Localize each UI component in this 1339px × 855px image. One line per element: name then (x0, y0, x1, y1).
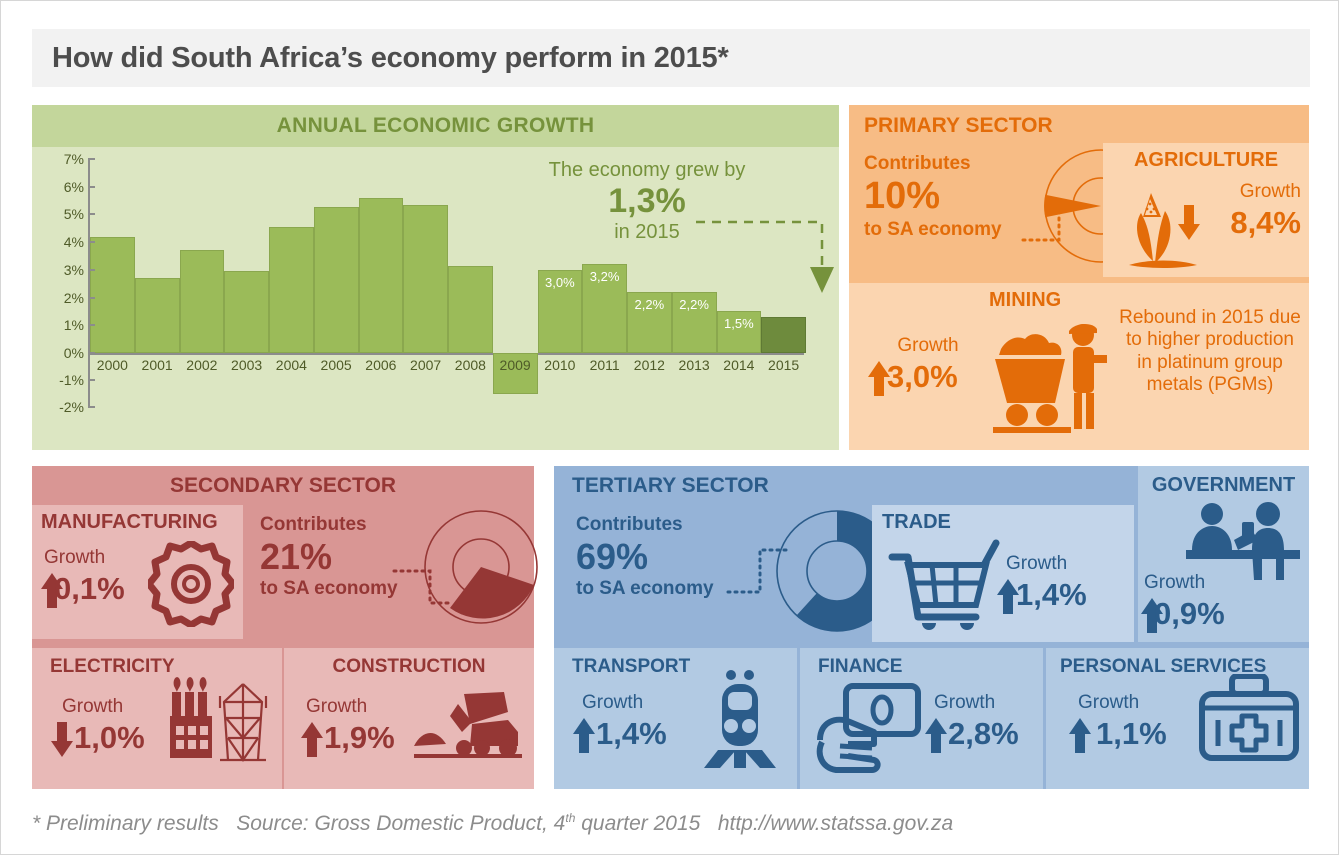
y-tick-mark (88, 269, 95, 271)
arrow-down-icon (50, 722, 74, 758)
x-tick-label-2011: 2011 (582, 357, 627, 373)
electricity-title: ELECTRICITY (50, 656, 175, 678)
manufacturing-growth-label: Growth (44, 547, 105, 569)
y-tick-label: 4% (40, 234, 84, 250)
train-icon (700, 670, 780, 770)
arrow-up-icon (1068, 718, 1092, 754)
agriculture-title: AGRICULTURE (1103, 149, 1309, 172)
y-tick-mark (88, 324, 95, 326)
manufacturing-title: MANUFACTURING (41, 511, 218, 534)
x-tick-label-2000: 2000 (90, 357, 135, 373)
title-bar: How did South Africa’s economy perform i… (32, 29, 1310, 87)
x-tick-label-2004: 2004 (269, 357, 314, 373)
bar-2000 (90, 237, 135, 353)
secondary-contributes-label: Contributes (260, 514, 430, 536)
tertiary-contribution: Contributes 69% to SA economy (576, 514, 746, 600)
footer-source: Source: Gross Domestic Product, 4 (236, 812, 565, 835)
primary-contribution: Contributes 10% to SA economy (864, 153, 1044, 241)
x-tick-label-2008: 2008 (448, 357, 493, 373)
x-tick-label-2013: 2013 (672, 357, 717, 373)
trade-growth-value: 1,4% (1016, 577, 1087, 613)
tertiary-sector-title: TERTIARY SECTOR (572, 474, 769, 498)
footer: * Preliminary results Source: Gross Dome… (32, 811, 953, 836)
medical-kit-icon (1198, 674, 1300, 762)
bar-value-2011: 3,2% (583, 269, 626, 284)
construction-growth-label: Growth (306, 696, 367, 718)
mining-growth-value: 3,0% (887, 359, 958, 395)
bar-2004 (269, 227, 314, 353)
bar-value-2010: 3,0% (539, 275, 582, 290)
manufacturing-box: MANUFACTURING Growth 0,1% (32, 505, 243, 639)
construction-growth-value: 1,9% (324, 720, 395, 756)
government-growth-value: 0,9% (1154, 596, 1225, 632)
chart-title: ANNUAL ECONOMIC GROWTH (277, 114, 595, 138)
agriculture-growth-value: 8,4% (1181, 205, 1301, 241)
y-tick-mark (88, 352, 95, 354)
y-tick-mark (88, 213, 95, 215)
primary-sector-title: PRIMARY SECTOR (864, 114, 1053, 138)
x-tick-label-2009: 2009 (493, 357, 538, 373)
y-tick-label: 0% (40, 345, 84, 361)
arrow-up-icon (300, 722, 324, 758)
gear-icon (148, 541, 234, 627)
x-tick-label-2006: 2006 (359, 357, 404, 373)
finance-title: FINANCE (818, 656, 902, 678)
electricity-growth-value: 1,0% (74, 720, 145, 756)
government-box: GOVERNMENT Growth 0,9% (1138, 466, 1309, 642)
bar-2010: 3,0% (538, 270, 583, 353)
bar-2012: 2,2% (627, 292, 672, 353)
secondary-sector-panel: SECONDARY SECTOR MANUFACTURING Growth 0,… (32, 466, 534, 789)
x-tick-label-2014: 2014 (717, 357, 762, 373)
callout-line-1: The economy grew by (502, 159, 792, 182)
arrow-up-icon (924, 718, 948, 754)
callout-value: 1,3% (502, 182, 792, 221)
bar-chart: 7%6%5%4%3%2%1%0%-1%-2% 20002001200220032… (32, 147, 839, 450)
government-growth-label: Growth (1144, 572, 1205, 594)
construction-title: CONSTRUCTION (284, 656, 534, 678)
x-tick-label-2001: 2001 (135, 357, 180, 373)
transport-growth-label: Growth (582, 692, 643, 714)
footer-source-ordinal: th (565, 811, 575, 825)
bar-2013: 2,2% (672, 292, 717, 353)
footer-preliminary: * Preliminary results (32, 812, 219, 835)
finance-box: FINANCE Growth 2,8% (800, 648, 1043, 789)
trade-growth-label: Growth (1006, 553, 1067, 575)
bar-value-2013: 2,2% (673, 297, 716, 312)
transport-growth-value: 1,4% (596, 716, 667, 752)
infographic-page: How did South Africa’s economy perform i… (0, 0, 1339, 855)
trade-title: TRADE (882, 511, 951, 534)
secondary-sector-title: SECONDARY SECTOR (32, 474, 534, 498)
shopping-cart-icon (888, 539, 1000, 635)
bar-2014: 1,5% (717, 311, 762, 353)
bar-value-2014: 1,5% (718, 316, 761, 331)
x-tick-label-2002: 2002 (180, 357, 225, 373)
mining-cart-icon (991, 315, 1111, 437)
y-tick-label: 5% (40, 206, 84, 222)
personal-services-box: PERSONAL SERVICES Growth 1,1% (1046, 648, 1309, 789)
bar-2003 (224, 271, 269, 353)
primary-contributes-value: 10% (864, 175, 1044, 219)
construction-box: CONSTRUCTION Growth 1,9% (284, 648, 534, 789)
personal-services-growth-label: Growth (1078, 692, 1139, 714)
bar-2015 (761, 317, 806, 353)
x-tick-label-2012: 2012 (627, 357, 672, 373)
x-tick-label-2003: 2003 (224, 357, 269, 373)
bar-2007 (403, 205, 448, 353)
bar-value-2012: 2,2% (628, 297, 671, 312)
y-tick-mark (88, 158, 95, 160)
callout-line-3: in 2015 (502, 221, 792, 244)
x-tick-label-2010: 2010 (538, 357, 583, 373)
y-tick-label: -1% (40, 372, 84, 388)
y-axis-labels: 7%6%5%4%3%2%1%0%-1%-2% (40, 147, 84, 450)
y-tick-mark (88, 406, 95, 408)
primary-contributes-label: Contributes (864, 153, 1044, 175)
x-tick-label-2007: 2007 (403, 357, 448, 373)
government-title: GOVERNMENT (1138, 474, 1309, 497)
x-tick-label-2015: 2015 (761, 357, 806, 373)
y-tick-mark (88, 297, 95, 299)
tertiary-contributes-label: Contributes (576, 514, 746, 536)
y-tick-mark (88, 379, 95, 381)
y-tick-label: 2% (40, 290, 84, 306)
x-tick-label-2005: 2005 (314, 357, 359, 373)
trade-box: TRADE Growth 1,4% (872, 505, 1134, 642)
primary-sector-panel: PRIMARY SECTOR Contributes 10% to SA eco… (849, 105, 1309, 450)
tertiary-contributes-value: 69% (576, 536, 746, 578)
electricity-growth-label: Growth (62, 696, 123, 718)
bar-2005 (314, 207, 359, 353)
y-tick-mark (88, 241, 95, 243)
mining-note: Rebound in 2015 due to higher production… (1117, 307, 1303, 397)
bar-2002 (180, 250, 225, 353)
payment-hand-icon (814, 682, 924, 774)
tertiary-contributes-sub: to SA economy (576, 578, 746, 600)
mining-box: MINING Growth 3,0% Rebound in 2015 due t… (849, 283, 1309, 450)
finance-growth-label: Growth (934, 692, 995, 714)
arrow-up-icon (572, 718, 596, 754)
tertiary-sector-panel: TERTIARY SECTOR Contributes 69% to SA ec… (554, 466, 1309, 789)
primary-contributes-sub: to SA economy (864, 219, 1044, 241)
page-title: How did South Africa’s economy perform i… (32, 42, 729, 75)
annual-economic-growth-panel: ANNUAL ECONOMIC GROWTH 7%6%5%4%3%2%1%0%-… (32, 105, 839, 450)
footer-source-rest: quarter 2015 (575, 812, 700, 835)
secondary-share-donut (422, 508, 540, 626)
y-tick-label: 1% (40, 317, 84, 333)
finance-growth-value: 2,8% (948, 716, 1019, 752)
electricity-box: ELECTRICITY Growth 1,0% (32, 648, 282, 789)
y-tick-label: 6% (40, 179, 84, 195)
transport-title: TRANSPORT (572, 656, 690, 678)
agriculture-growth-label: Growth (1181, 181, 1301, 203)
mining-title: MINING (989, 289, 1061, 312)
bar-2008 (448, 266, 493, 353)
mining-growth-label: Growth (873, 335, 983, 357)
chart-header: ANNUAL ECONOMIC GROWTH (32, 105, 839, 147)
bar-2011: 3,2% (582, 264, 627, 353)
y-tick-label: 3% (40, 262, 84, 278)
y-tick-mark (88, 186, 95, 188)
y-tick-label: 7% (40, 151, 84, 167)
bar-2001 (135, 278, 180, 353)
power-plant-icon (168, 672, 272, 764)
personal-services-growth-value: 1,1% (1096, 716, 1167, 752)
y-tick-label: -2% (40, 399, 84, 415)
transport-box: TRANSPORT Growth 1,4% (554, 648, 797, 789)
dump-truck-icon (412, 688, 524, 764)
agriculture-box: AGRICULTURE Growth 8,4% (1103, 143, 1309, 277)
manufacturing-growth-value: 0,1% (54, 571, 125, 607)
bar-2006 (359, 198, 404, 353)
growth-callout: The economy grew by 1,3% in 2015 (502, 159, 792, 244)
footer-url[interactable]: http://www.statssa.gov.za (718, 812, 953, 835)
